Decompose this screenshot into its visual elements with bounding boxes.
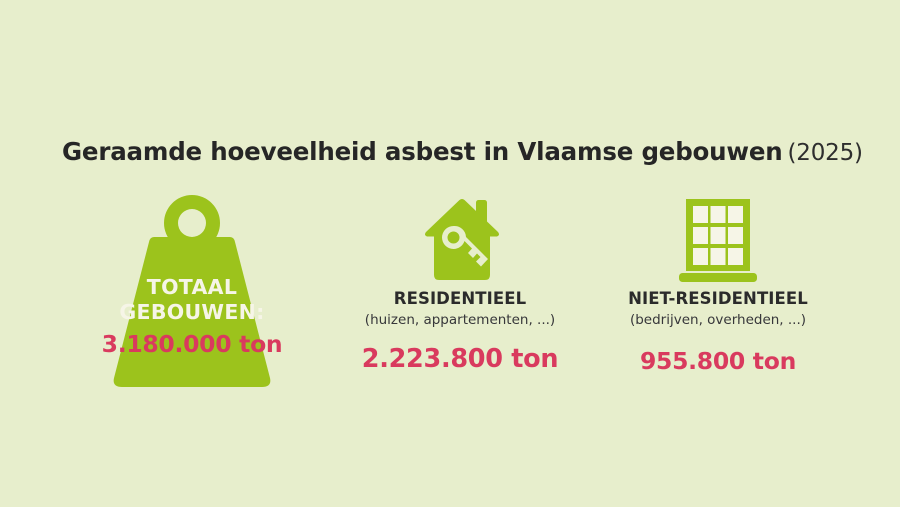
category-residential: RESIDENTIEEL (huizen, appartementen, ...… <box>310 196 610 375</box>
office-building-icon <box>678 198 758 282</box>
page-title-year: (2025) <box>788 140 863 166</box>
category-residential-icon-wrap <box>310 196 610 282</box>
page-title-text: Geraamde hoeveelheid asbest in Vlaamse g… <box>62 137 783 166</box>
category-residential-subtitle: (huizen, appartementen, ...) <box>310 312 610 329</box>
asbestos-infographic: Geraamde hoeveelheid asbest in Vlaamse g… <box>0 0 900 507</box>
category-residential-value: 2.223.800 ton <box>310 343 610 375</box>
category-nonresidential-title: NIET-RESIDENTIEEL <box>568 289 868 309</box>
total-buildings-text: TOTAAL GEBOUWEN: 3.180.000 ton <box>72 190 312 395</box>
category-nonresidential-subtitle: (bedrijven, overheden, ...) <box>568 312 868 329</box>
category-residential-title: RESIDENTIEEL <box>310 289 610 309</box>
category-nonresidential-icon-wrap <box>568 196 868 282</box>
total-buildings-stat: TOTAAL GEBOUWEN: 3.180.000 ton <box>72 190 312 395</box>
page-title: Geraamde hoeveelheid asbest in Vlaamse g… <box>62 137 863 166</box>
category-nonresidential: NIET-RESIDENTIEEL (bedrijven, overheden,… <box>568 196 868 377</box>
house-key-icon <box>420 198 500 282</box>
total-label-line1: TOTAAL <box>147 275 237 300</box>
total-label-line2: GEBOUWEN: <box>119 300 264 325</box>
total-value: 3.180.000 ton <box>102 329 283 359</box>
category-nonresidential-value: 955.800 ton <box>568 345 868 377</box>
